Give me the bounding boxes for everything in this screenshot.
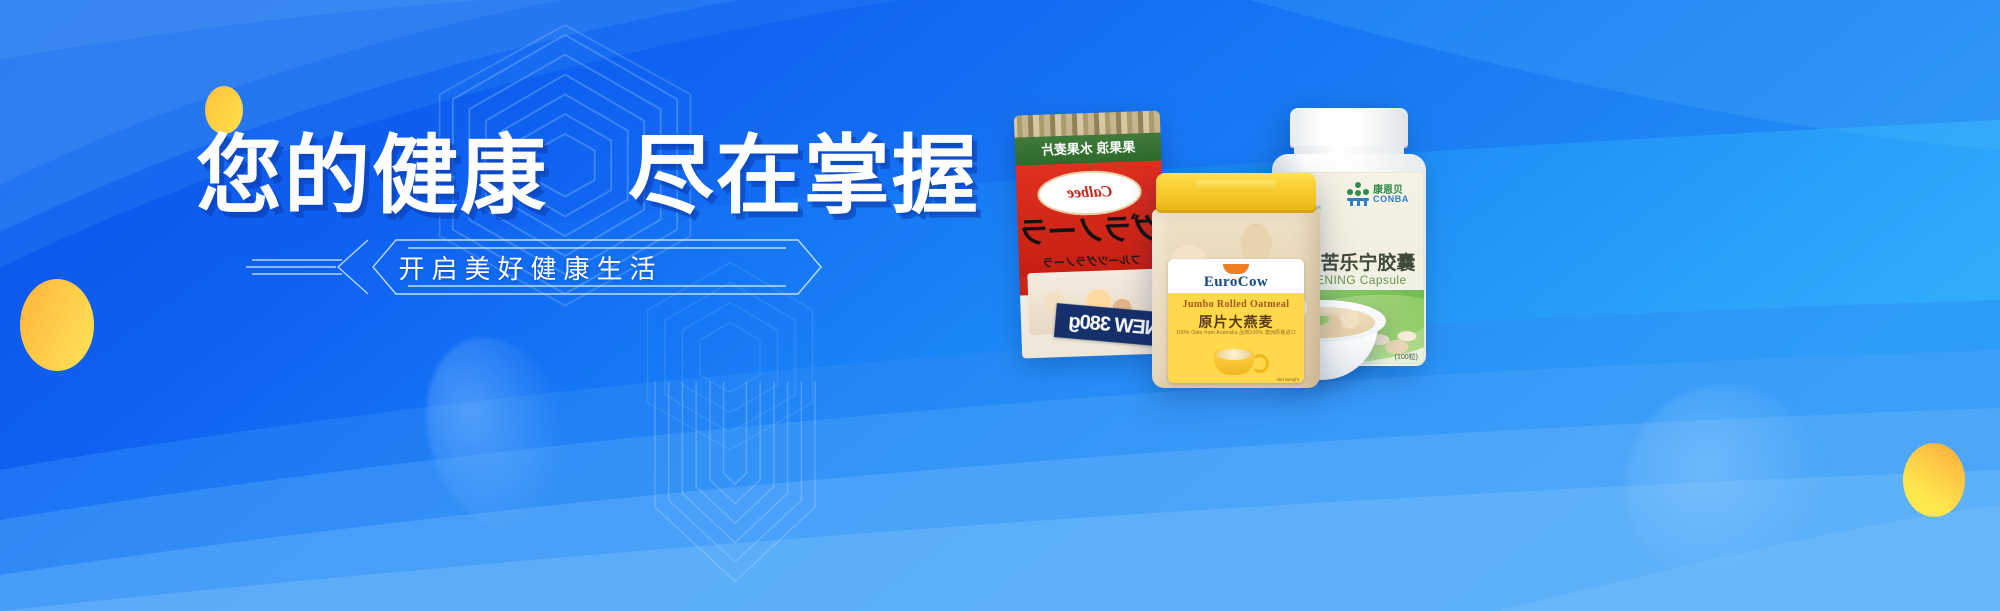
- decorative-dot-1: [205, 86, 243, 134]
- eurocow-arc-icon: [1223, 264, 1249, 274]
- headline-part-1: 您的健康: [196, 128, 548, 224]
- product-cereal-bag: 果果浪 水果麦片 Calbee グラノーラ フルーツグラノーラ NEW 380g: [1014, 111, 1168, 359]
- subtitle-text-wrapper: 开启美好健康生活: [238, 236, 823, 298]
- oatmeal-fine-print: 100% Oats from Australia 品牌100% 澳洲原装进口: [1168, 330, 1304, 337]
- cereal-bag-artwork: 果果浪 水果麦片 Calbee グラノーラ フルーツグラノーラ NEW 380g: [1014, 111, 1168, 359]
- oatmeal-net-weight-label: Net Weight: [1277, 377, 1299, 382]
- bottle-count-text: (100粒): [1395, 352, 1418, 362]
- health-promo-banner: 您的健康 尽在掌握 开启美好健康生活 果果浪 水果麦片: [0, 0, 2000, 611]
- conba-brand-lockup: 康恩贝 CONBA: [1346, 181, 1416, 211]
- oatmeal-product-en: Jumbo Rolled Oatmeal: [1168, 299, 1304, 310]
- product-oatmeal-jar: EuroCow Jumbo Rolled Oatmeal 原片大燕麦 100% …: [1152, 173, 1320, 388]
- decorative-dot-2: [20, 279, 94, 371]
- conba-logo-icon: [1346, 182, 1370, 206]
- background-waves: [0, 0, 2000, 611]
- headline-part-2: 尽在掌握: [628, 128, 980, 224]
- page-title: 您的健康 尽在掌握: [196, 133, 980, 219]
- oatmeal-product-cn: 原片大燕麦: [1168, 312, 1304, 332]
- jar-lid: [1156, 173, 1316, 213]
- eurocow-brand: EuroCow: [1168, 274, 1304, 291]
- jar-label: EuroCow Jumbo Rolled Oatmeal 原片大燕麦 100% …: [1168, 259, 1304, 383]
- cereal-bag-brand-oval: Calbee: [1037, 169, 1142, 217]
- conba-brand-en: CONBA: [1373, 194, 1409, 204]
- cereal-bag-brand-text: Calbee: [1037, 169, 1142, 217]
- oatmeal-cup-illustration: [1208, 341, 1264, 381]
- decorative-dot-4: [1903, 443, 1965, 517]
- cereal-bag-japanese-main: グラノーラ: [1017, 214, 1164, 249]
- subtitle-text: 开启美好健康生活: [398, 249, 662, 286]
- bottle-cap: [1290, 108, 1408, 148]
